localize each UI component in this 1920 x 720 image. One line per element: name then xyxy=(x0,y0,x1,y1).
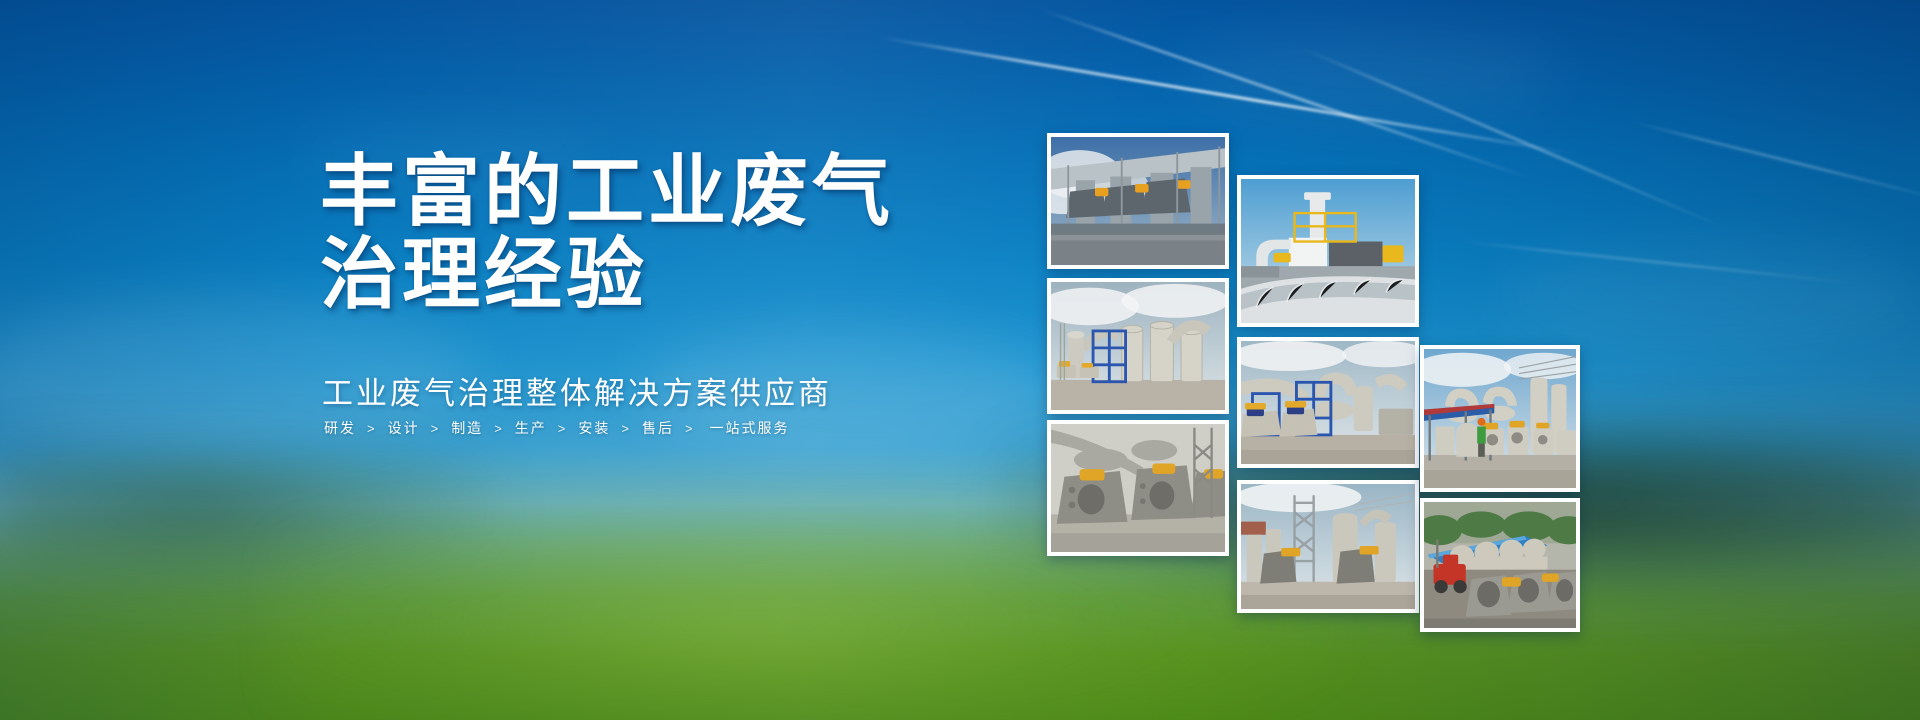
photo-pipeline-rooftop[interactable] xyxy=(1047,133,1229,269)
photo-thermal-oxidizer[interactable] xyxy=(1237,175,1419,327)
photo-duct-manifold[interactable] xyxy=(1237,337,1419,468)
hero-banner: 丰富的工业废气 治理经验 工业废气治理整体解决方案供应商 研发 > 设计 > 制… xyxy=(0,0,1920,720)
photo-fan-yard[interactable] xyxy=(1420,498,1580,632)
photo-scrubber-towers[interactable] xyxy=(1047,278,1229,414)
photo-collage xyxy=(0,0,1920,720)
photo-site-install[interactable] xyxy=(1420,345,1580,492)
photo-plant-overview[interactable] xyxy=(1237,480,1419,613)
photo-centrifugal-fans[interactable] xyxy=(1047,420,1229,556)
